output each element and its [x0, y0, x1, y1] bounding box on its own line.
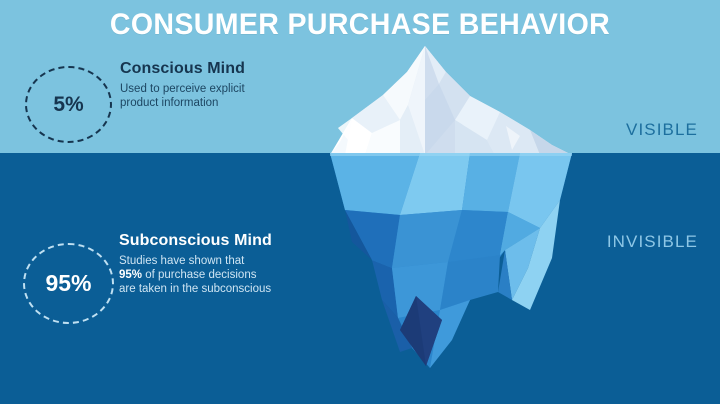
subconscious-body-emphasis: 95% [119, 269, 142, 281]
subconscious-body-line-2: of purchase decisions [142, 269, 256, 281]
label-visible: VISIBLE [626, 120, 698, 140]
subconscious-body-line-1: Studies have shown that [119, 255, 244, 267]
conscious-mind-heading: Conscious Mind [120, 60, 245, 78]
iceberg-illustration [0, 0, 720, 404]
subconscious-mind-block: Subconscious Mind Studies have shown tha… [119, 232, 272, 296]
conscious-body-line-1: Used to perceive explicit [120, 83, 245, 95]
label-invisible: INVISIBLE [607, 232, 698, 252]
iceberg-above-water [330, 46, 572, 155]
conscious-mind-block: Conscious Mind Used to perceive explicit… [120, 60, 245, 110]
percent-badge-subconscious: 95% [23, 243, 114, 324]
conscious-body-line-2: product information [120, 97, 218, 109]
infographic-canvas: CONSUMER PURCHASE BEHAVIOR 5% Conscious … [0, 0, 720, 404]
percent-badge-conscious: 5% [25, 66, 112, 143]
conscious-mind-body: Used to perceive explicit product inform… [120, 82, 245, 110]
subconscious-mind-body: Studies have shown that 95% of purchase … [119, 254, 272, 296]
iceberg-below-water [330, 153, 572, 368]
page-title: CONSUMER PURCHASE BEHAVIOR [18, 8, 702, 42]
subconscious-mind-heading: Subconscious Mind [119, 232, 272, 250]
subconscious-body-line-3: are taken in the subconscious [119, 283, 271, 295]
